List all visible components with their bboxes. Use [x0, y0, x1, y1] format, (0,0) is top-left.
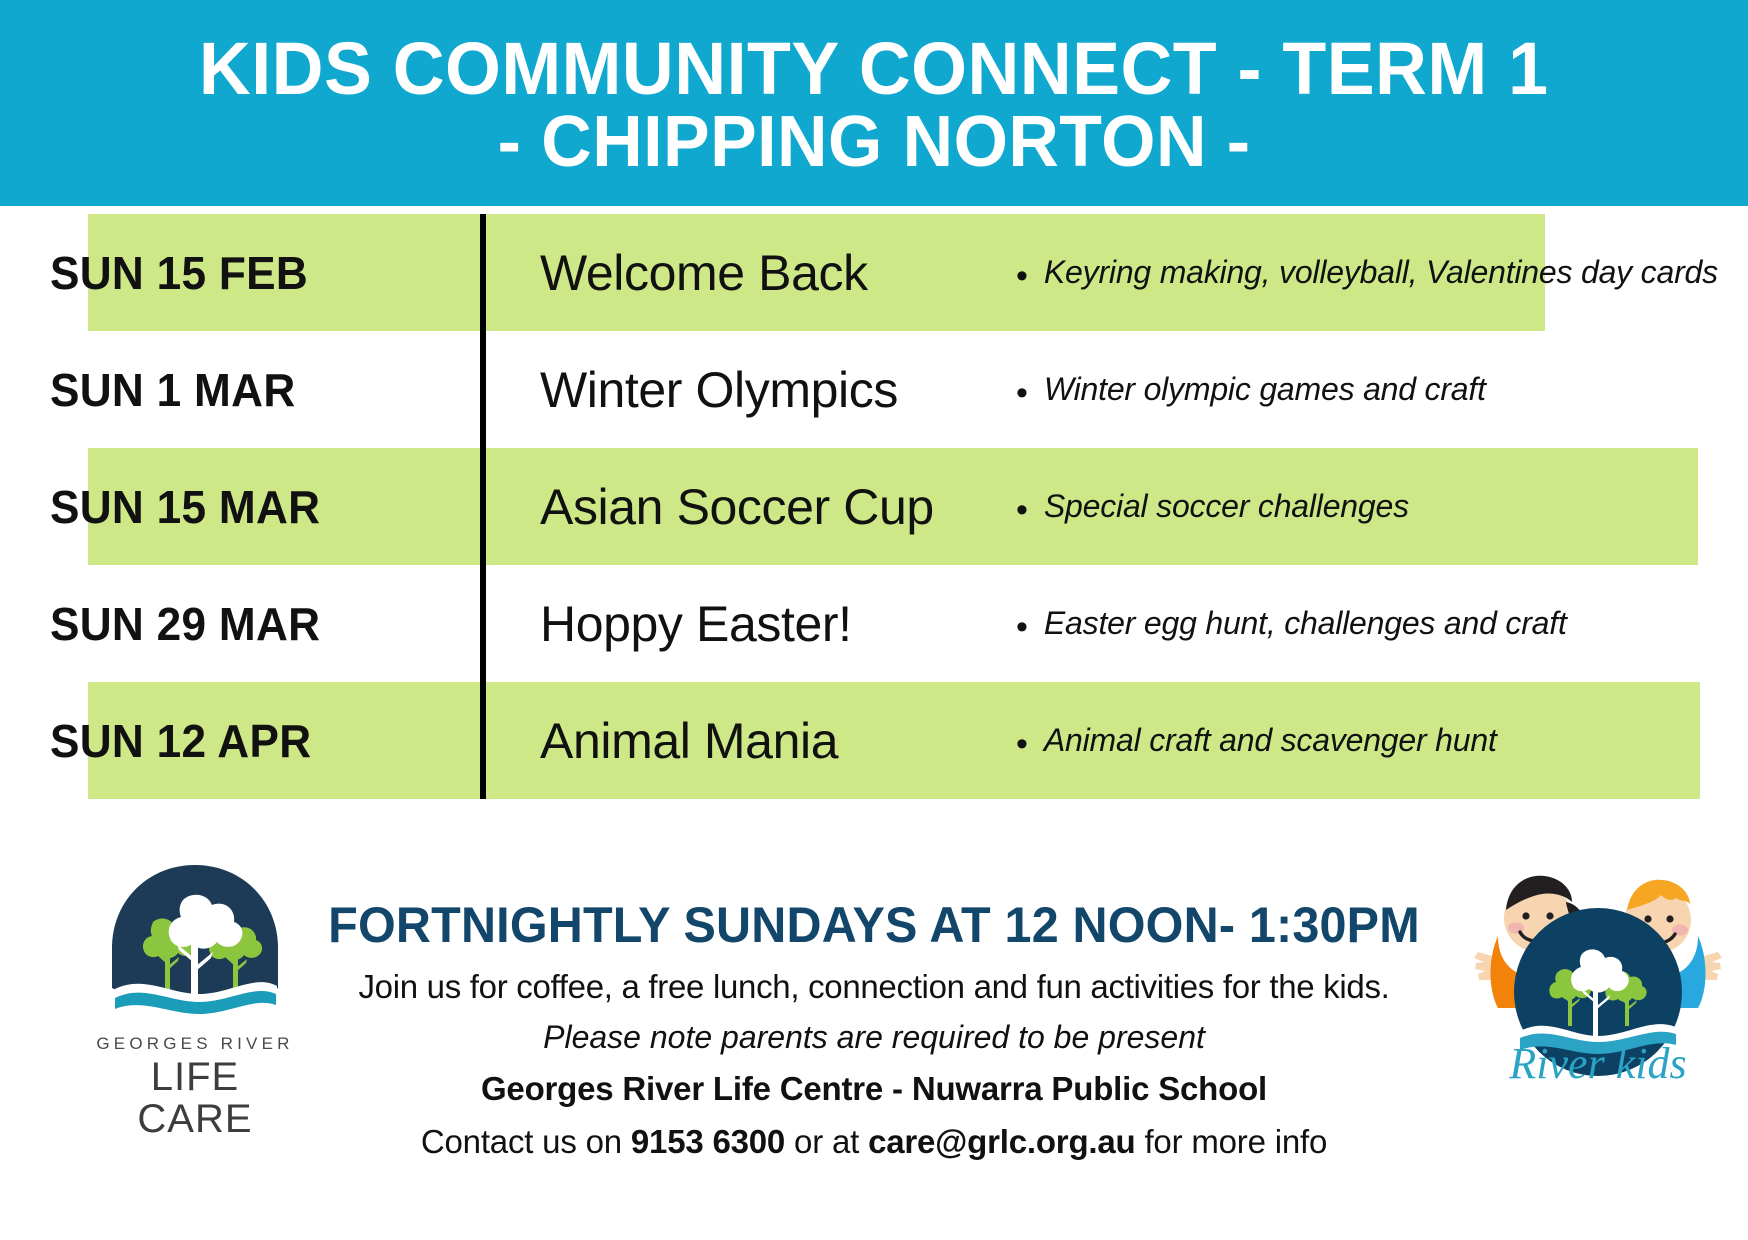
row-title-label: Animal Mania [540, 712, 838, 770]
row-description-text: Special soccer challenges [1044, 488, 1409, 525]
row-date-cell: SUN 1 MAR [0, 331, 470, 448]
row-description-text: Keyring making, volleyball, Valentines d… [1044, 254, 1718, 291]
row-title-label: Winter Olympics [540, 361, 898, 419]
table-row: SUN 15 FEB Welcome Back • Keyring making… [0, 214, 1748, 331]
contact-email[interactable]: care@grlc.org.au [868, 1123, 1135, 1160]
row-description-cell: • Animal craft and scavenger hunt [1016, 682, 1748, 799]
georges-river-life-care-logo: GEORGES RIVER LIFE CARE [95, 862, 295, 1102]
poster-header: KIDS COMMUNITY CONNECT - TERM 1 - CHIPPI… [0, 0, 1748, 206]
table-row: SUN 29 MAR Hoppy Easter! • Easter egg hu… [0, 565, 1748, 682]
contact-suffix: for more info [1136, 1123, 1328, 1160]
river-kids-logo-mark-icon: River kids [1462, 840, 1734, 1090]
row-description-cell: • Keyring making, volleyball, Valentines… [1016, 214, 1748, 331]
row-description-cell: • Special soccer challenges [1016, 448, 1748, 565]
row-title-cell: Animal Mania [496, 682, 1016, 799]
schedule-table: SUN 15 FEB Welcome Back • Keyring making… [0, 214, 1748, 872]
row-date-cell: SUN 12 APR [0, 682, 470, 799]
row-date-cell: SUN 29 MAR [0, 565, 470, 682]
contact-phone[interactable]: 9153 6300 [631, 1123, 785, 1160]
row-date-label: SUN 12 APR [50, 714, 311, 768]
row-title-cell: Hoppy Easter! [496, 565, 1016, 682]
row-title-cell: Winter Olympics [496, 331, 1016, 448]
column-divider [470, 448, 496, 565]
row-date-label: SUN 15 FEB [50, 246, 308, 300]
column-divider [470, 214, 496, 331]
row-date-cell: SUN 15 MAR [0, 448, 470, 565]
row-date-cell: SUN 15 FEB [0, 214, 470, 331]
contact-prefix: Contact us on [421, 1123, 631, 1160]
grlc-wordmark: GEORGES RIVER LIFE CARE [95, 1034, 295, 1140]
row-description-text: Winter olympic games and craft [1044, 371, 1486, 408]
row-title-cell: Welcome Back [496, 214, 1016, 331]
row-date-label: SUN 29 MAR [50, 597, 320, 651]
row-title-cell: Asian Soccer Cup [496, 448, 1016, 565]
row-description-text: Easter egg hunt, challenges and craft [1044, 605, 1567, 642]
grlc-wordmark-top: GEORGES RIVER [95, 1034, 295, 1054]
grlc-logo-mark-icon [109, 862, 281, 1030]
row-description-cell: • Winter olympic games and craft [1016, 331, 1748, 448]
bullet-icon: • [1016, 722, 1028, 764]
row-description-text: Animal craft and scavenger hunt [1044, 722, 1497, 759]
column-divider [470, 331, 496, 448]
row-title-label: Hoppy Easter! [540, 595, 852, 653]
river-kids-logo: River kids [1462, 840, 1734, 1090]
header-title-line-1: KIDS COMMUNITY CONNECT - TERM 1 [199, 31, 1549, 106]
table-row: SUN 12 APR Animal Mania • Animal craft a… [0, 682, 1748, 799]
row-date-label: SUN 15 MAR [50, 480, 320, 534]
bullet-icon: • [1016, 371, 1028, 413]
poster-root: KIDS COMMUNITY CONNECT - TERM 1 - CHIPPI… [0, 0, 1748, 1240]
header-title-line-2: - CHIPPING NORTON - [498, 106, 1251, 179]
bullet-icon: • [1016, 254, 1028, 296]
contact-middle: or at [785, 1123, 868, 1160]
row-description-cell: • Easter egg hunt, challenges and craft [1016, 565, 1748, 682]
river-kids-wordmark: River kids [1508, 1039, 1686, 1088]
row-title-label: Asian Soccer Cup [540, 478, 934, 536]
bullet-icon: • [1016, 605, 1028, 647]
column-divider [470, 682, 496, 799]
table-row: SUN 15 MAR Asian Soccer Cup • Special so… [0, 448, 1748, 565]
column-divider [470, 565, 496, 682]
bullet-icon: • [1016, 488, 1028, 530]
row-title-label: Welcome Back [540, 244, 868, 302]
table-row: SUN 1 MAR Winter Olympics • Winter olymp… [0, 331, 1748, 448]
grlc-wordmark-bottom: LIFE CARE [95, 1056, 295, 1140]
row-date-label: SUN 1 MAR [50, 363, 296, 417]
